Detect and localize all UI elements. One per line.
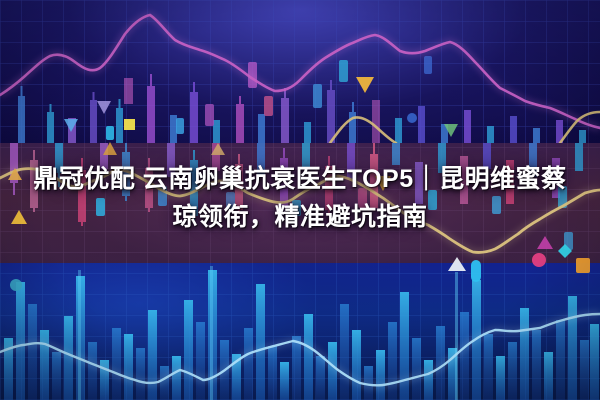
square-orange-icon [576,258,590,273]
circle-teal-icon [10,279,22,291]
banner-canvas: 鼎冠优配 云南卵巢抗衰医生TOP5｜昆明维蜜蔡 琼领衔，精准避坑指南 [0,0,600,400]
headline-line-1: 鼎冠优配 云南卵巢抗衰医生TOP5｜昆明维蜜蔡 [0,160,600,198]
circle-pink-icon [532,253,546,267]
headline-line-2: 琼领衔，精准避坑指南 [0,198,600,236]
capsule-cyan-icon [471,260,481,282]
headline: 鼎冠优配 云南卵巢抗衰医生TOP5｜昆明维蜜蔡 琼领衔，精准避坑指南 [0,160,600,236]
circle-blue-dot-icon [407,113,417,123]
square-yellow-icon [124,119,135,130]
